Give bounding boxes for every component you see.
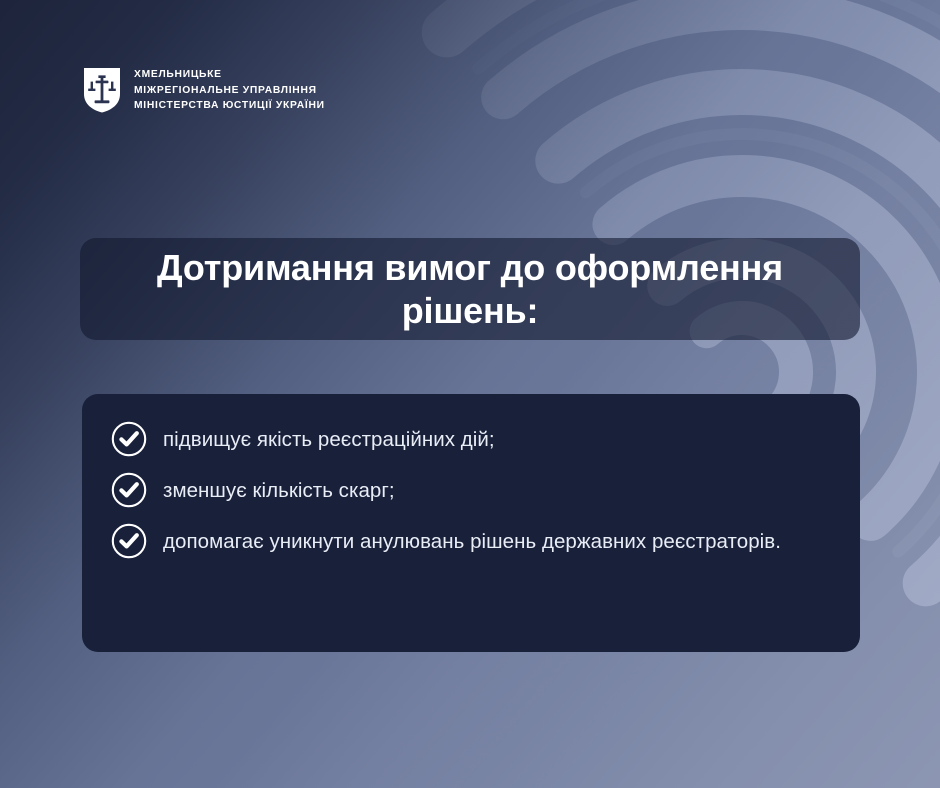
poster-canvas: ХМЕЛЬНИЦЬКЕ МІЖРЕГІОНАЛЬНЕ УПРАВЛІННЯ МІ… [0,0,940,788]
list-item: допомагає уникнути анулювань рішень держ… [110,526,826,560]
organization-logo: ХМЕЛЬНИЦЬКЕ МІЖРЕГІОНАЛЬНЕ УПРАВЛІННЯ МІ… [82,66,325,114]
list-item-label: допомагає уникнути анулювань рішень держ… [163,526,781,557]
organization-name: ХМЕЛЬНИЦЬКЕ МІЖРЕГІОНАЛЬНЕ УПРАВЛІННЯ МІ… [134,67,325,112]
shield-scales-of-justice-icon [82,66,122,114]
check-circle-icon [110,471,148,509]
benefits-card: підвищує якість реєстраційних дій; зменш… [82,394,860,652]
list-item: підвищує якість реєстраційних дій; [110,424,826,458]
benefits-list: підвищує якість реєстраційних дій; зменш… [110,424,826,560]
list-item: зменшує кількість скарг; [110,475,826,509]
check-circle-icon [110,420,148,458]
list-item-label: зменшує кількість скарг; [163,475,395,506]
logo-line-3: МІНІСТЕРСТВА ЮСТИЦІЇ УКРАЇНИ [134,99,325,112]
check-circle-icon [110,522,148,560]
title-card: Дотримання вимог до оформлення рішень: [80,238,860,340]
list-item-label: підвищує якість реєстраційних дій; [163,424,495,455]
page-title: Дотримання вимог до оформлення рішень: [80,246,860,332]
logo-line-2: МІЖРЕГІОНАЛЬНЕ УПРАВЛІННЯ [134,84,325,97]
logo-line-1: ХМЕЛЬНИЦЬКЕ [134,68,325,81]
